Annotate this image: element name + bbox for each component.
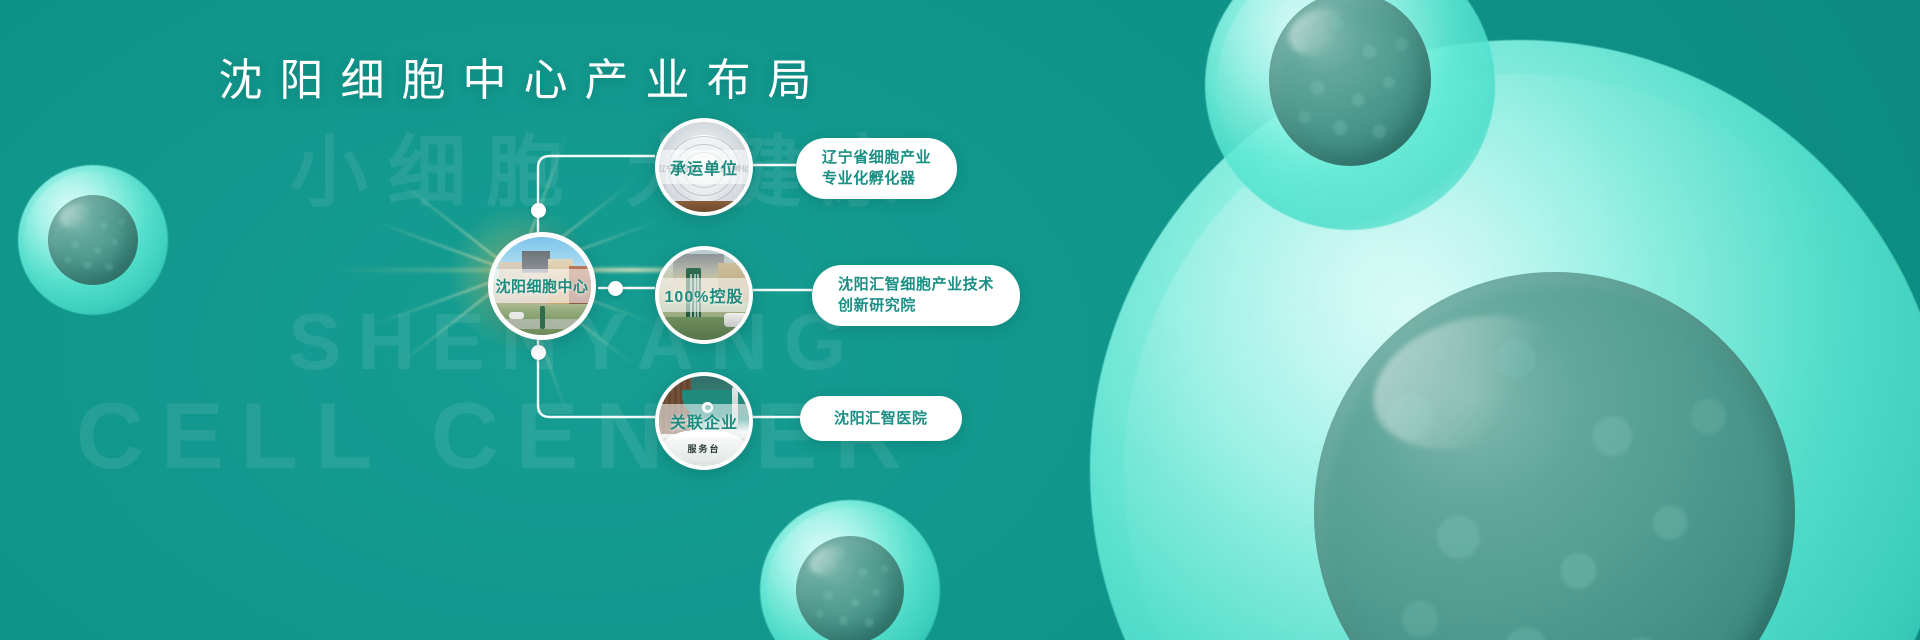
banner-stage: 小细胞 大健康 SHENYANG CELL CENTER 沈阳细胞中心产业布局 xyxy=(0,0,1920,640)
hub-node-shenyang-cell-center[interactable]: 沈阳细胞中心 xyxy=(488,232,596,340)
hub-node-label: 沈阳细胞中心 xyxy=(493,276,591,297)
connector-dot-bottom xyxy=(531,345,546,360)
branch-node-label-carrier: 承运单位 xyxy=(659,155,749,179)
pill-label-research-institute[interactable]: 沈阳汇智细胞产业技术 创新研究院 xyxy=(812,265,1020,326)
connector-dot-top xyxy=(531,203,546,218)
connector-dot-middle xyxy=(608,281,623,296)
pill-label-incubator[interactable]: 辽宁省细胞产业 专业化孵化器 xyxy=(796,138,957,199)
pill-label-hospital-text: 沈阳汇智医院 xyxy=(834,408,928,429)
photo-caption-affiliate: 服务台 xyxy=(659,442,749,455)
branch-node-label-holding: 100%控股 xyxy=(659,283,749,307)
branch-node-holding[interactable]: 100%控股 xyxy=(655,246,753,344)
pill-label-research-institute-text: 沈阳汇智细胞产业技术 创新研究院 xyxy=(838,274,994,317)
pill-label-incubator-text: 辽宁省细胞产业 专业化孵化器 xyxy=(822,147,931,190)
pill-label-hospital[interactable]: 沈阳汇智医院 xyxy=(800,396,962,441)
branch-node-label-affiliate: 关联企业 xyxy=(659,409,749,433)
branch-node-affiliate[interactable]: 沈阳汇智医院 服务台 关联企业 xyxy=(655,372,753,470)
branch-node-carrier[interactable]: 辽宁省细胞产业专业化孵化器 承运单位 xyxy=(655,118,753,216)
